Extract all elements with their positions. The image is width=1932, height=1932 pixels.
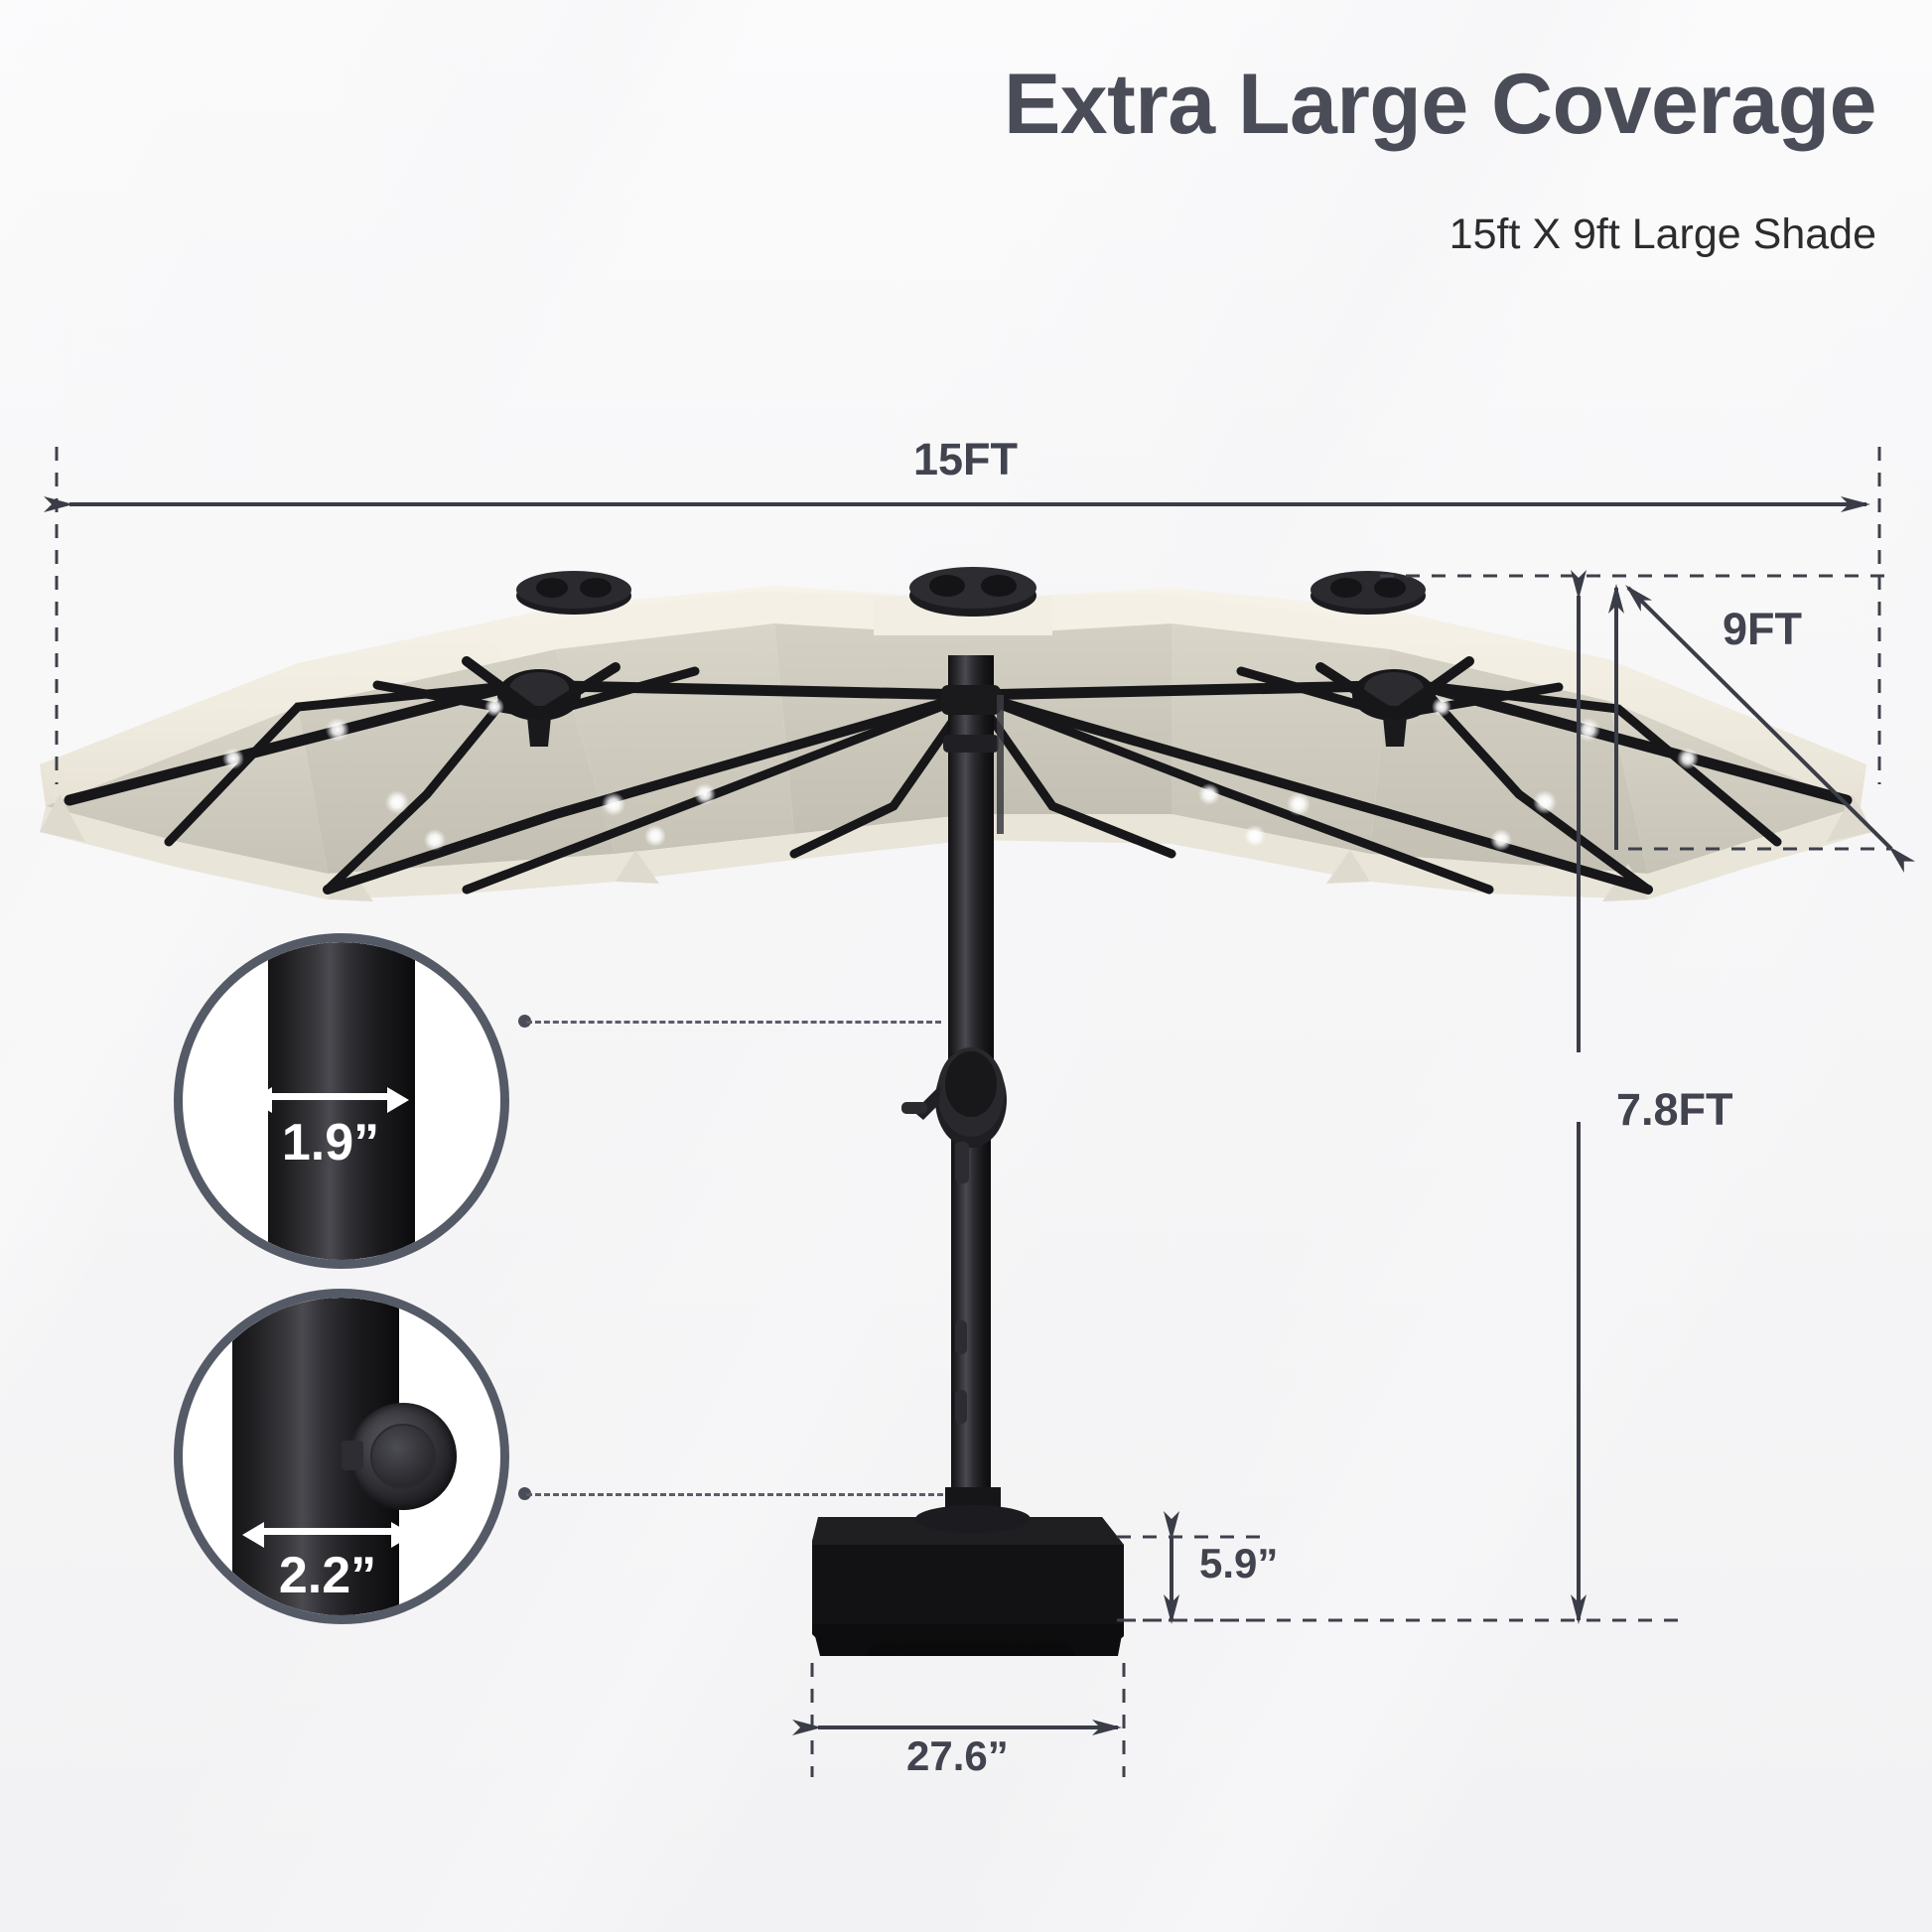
solar-panel-left: [516, 571, 631, 615]
callout-base-tube-diameter: 2.2”: [174, 1289, 509, 1624]
knob-tab: [342, 1441, 363, 1470]
canopy-left: [40, 571, 973, 901]
dimension-label-width: 15FT: [913, 434, 1018, 485]
crank-mechanism: [901, 1047, 1007, 1148]
leader-line-pole: [526, 1021, 941, 1024]
pole-width-arrow: [270, 1093, 389, 1100]
tightening-knob: [349, 1403, 457, 1510]
callout-base-tube-value: 2.2”: [250, 1546, 405, 1605]
dimension-label-depth: 9FT: [1723, 604, 1802, 655]
dimension-label-height: 7.8FT: [1616, 1084, 1733, 1136]
solar-panel-right: [1311, 571, 1426, 615]
callout-pole-value: 1.9”: [256, 1113, 405, 1173]
leader-line-base-tube: [526, 1493, 943, 1496]
base-tube-width-arrow: [262, 1528, 393, 1535]
knob-cap: [370, 1424, 436, 1489]
dimension-label-base-width: 27.6”: [906, 1732, 1009, 1780]
solar-panel-center: [874, 567, 1052, 635]
callout-base-tube-image: 2.2”: [183, 1298, 500, 1615]
page-title: Extra Large Coverage: [0, 56, 1876, 154]
infographic-canvas: Extra Large Coverage 15ft X 9ft Large Sh…: [0, 0, 1932, 1932]
callout-pole-image: 1.9”: [183, 942, 500, 1260]
page-subtitle: 15ft X 9ft Large Shade: [1449, 210, 1876, 259]
umbrella-base: [812, 1487, 1124, 1656]
callout-pole-diameter: 1.9”: [174, 933, 509, 1269]
dimension-label-base-height: 5.9”: [1199, 1540, 1278, 1587]
